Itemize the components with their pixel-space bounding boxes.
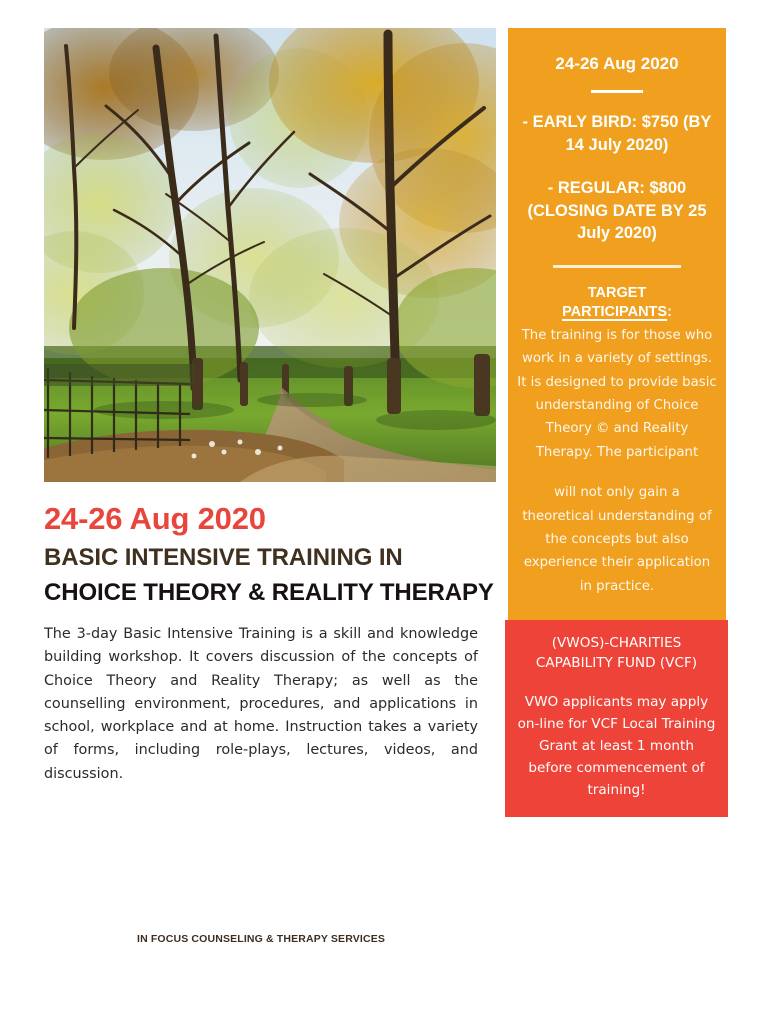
target-paragraph-1: The training is for those who work in a … [517, 324, 717, 464]
left-column: 24-26 Aug 2020 BASIC INTENSIVE TRAINING … [44, 28, 496, 786]
price-early-bird: - EARLY BIRD: $750 (BY 14 July 2020) [517, 111, 717, 157]
vcf-body-text: VWO applicants may apply on-line for VCF… [515, 691, 718, 801]
flyer-page: 24-26 Aug 2020 BASIC INTENSIVE TRAINING … [0, 0, 770, 1024]
organisation-footer: IN FOCUS COUNSELING & THERAPY SERVICES [137, 933, 385, 945]
autumn-park-trees-photo [44, 28, 496, 482]
headings-block: 24-26 Aug 2020 BASIC INTENSIVE TRAINING … [44, 502, 496, 607]
divider-rule-top [591, 90, 643, 93]
divider-rule-bottom [553, 265, 681, 268]
course-title-line-1: BASIC INTENSIVE TRAINING IN [44, 545, 496, 572]
target-heading-colon: : [667, 304, 672, 320]
info-sidebar: 24-26 Aug 2020 - EARLY BIRD: $750 (BY 14… [508, 28, 726, 817]
vcf-heading: (VWOS)-CHARITIES CAPABILITY FUND (VCF) [515, 634, 718, 673]
page-title-date: 24-26 Aug 2020 [44, 502, 496, 536]
target-heading-underlined: PARTICIPANTS [562, 304, 667, 320]
target-participants-heading: TARGET PARTICIPANTS: [517, 284, 717, 322]
sidebar-date: 24-26 Aug 2020 [517, 54, 717, 74]
target-paragraph-2: will not only gain a theoretical underst… [517, 481, 717, 598]
target-heading-line-1: TARGET [588, 285, 647, 301]
course-title-line-2: CHOICE THEORY & REALITY THERAPY [44, 580, 496, 607]
price-regular: - REGULAR: $800 (CLOSING DATE BY 25 July… [517, 177, 717, 245]
course-description-paragraph: The 3-day Basic Intensive Training is a … [44, 623, 478, 786]
vcf-panel: (VWOS)-CHARITIES CAPABILITY FUND (VCF) V… [505, 620, 728, 817]
pricing-panel: 24-26 Aug 2020 - EARLY BIRD: $750 (BY 14… [508, 28, 726, 620]
